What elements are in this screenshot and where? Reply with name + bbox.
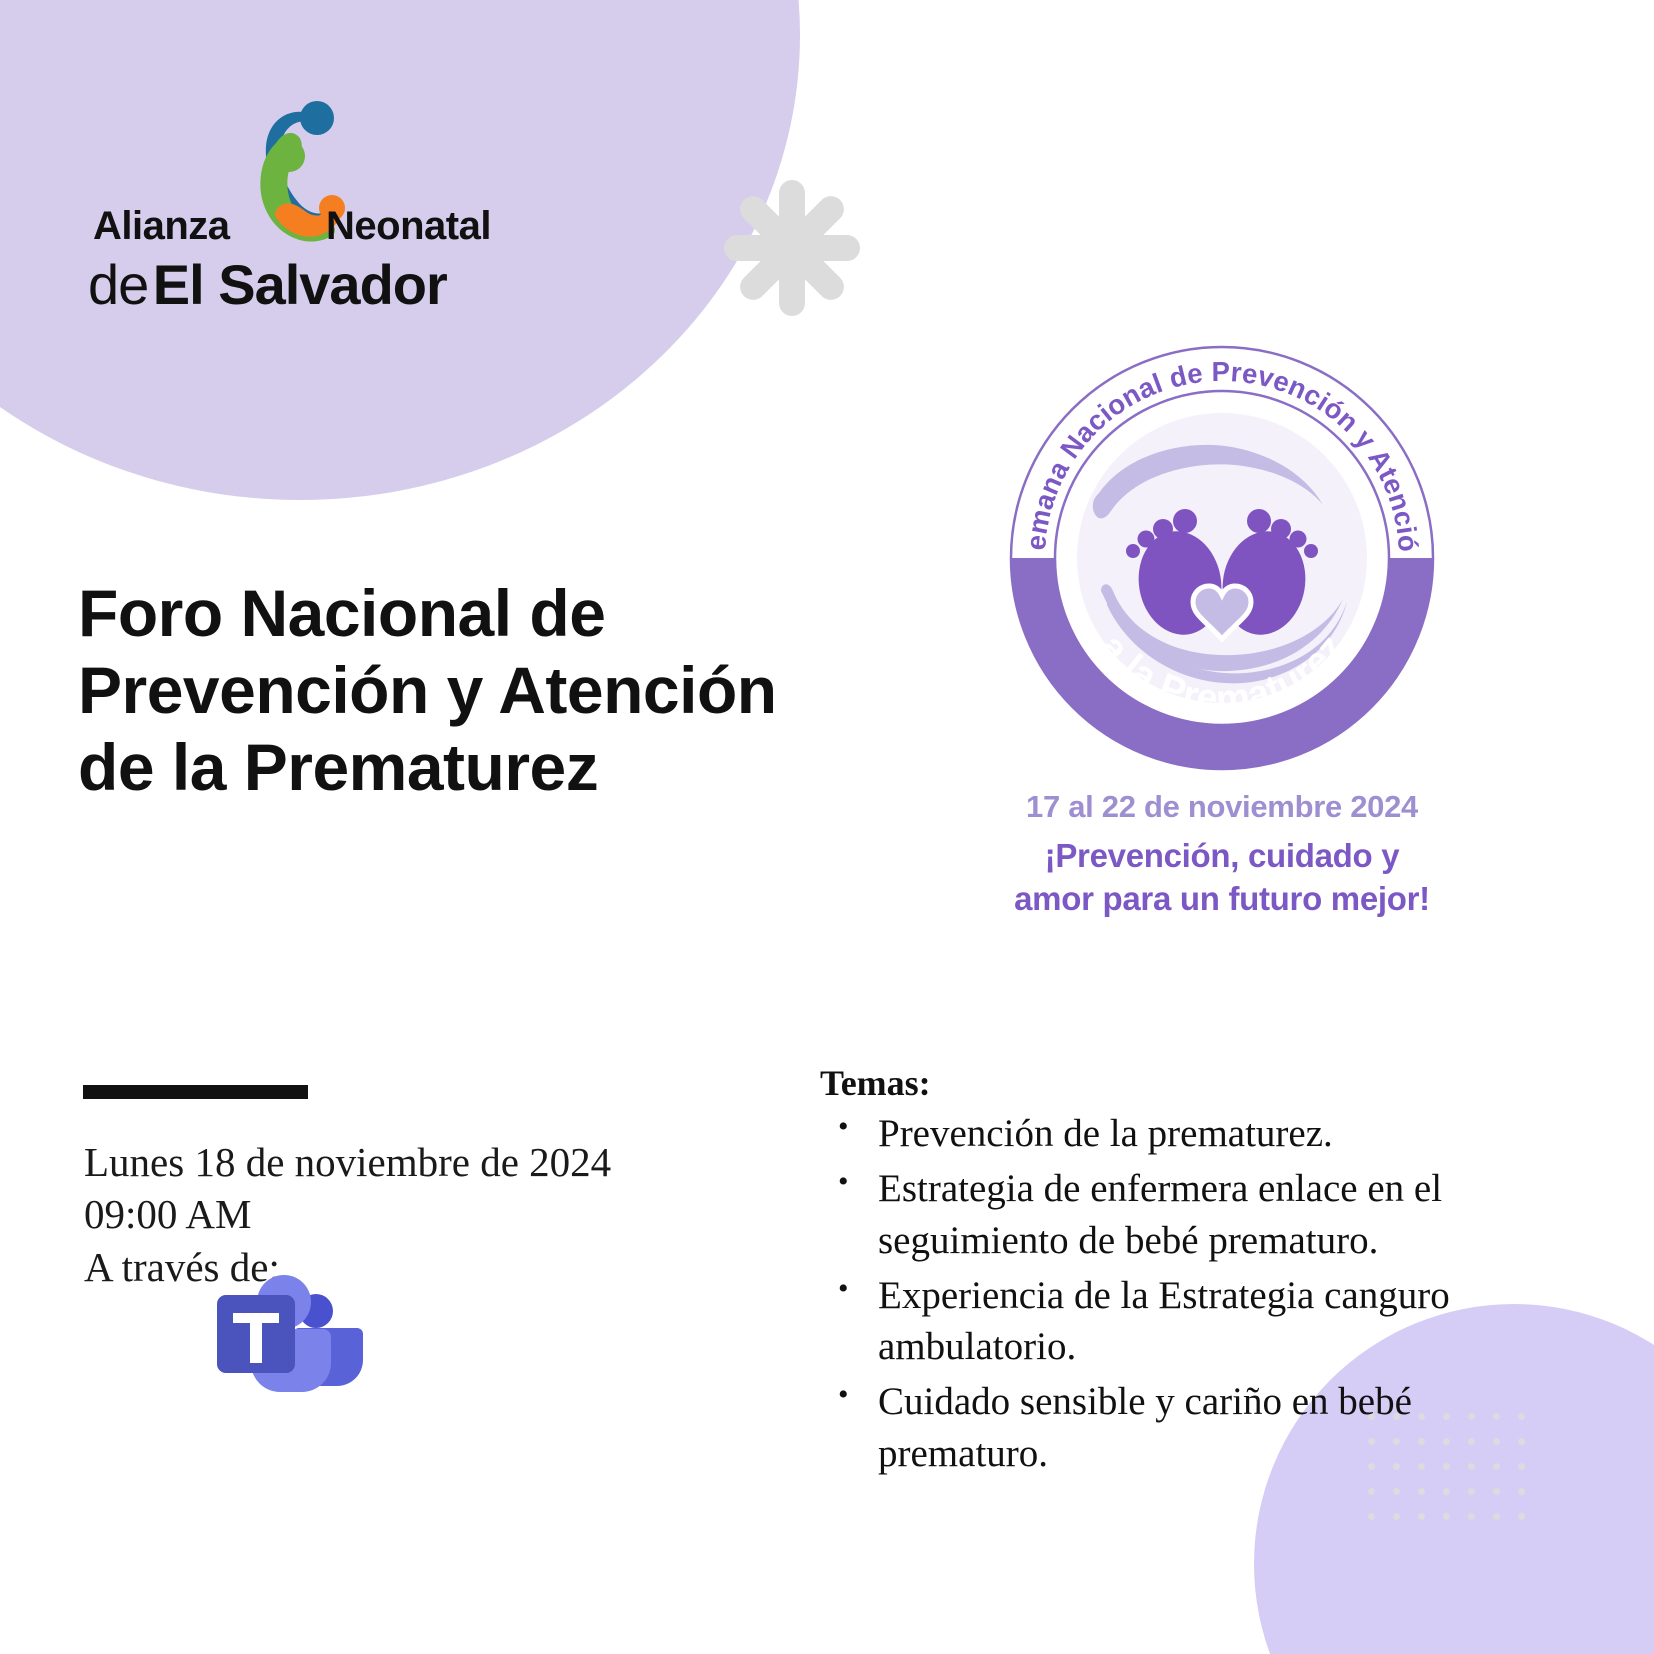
title-divider — [83, 1085, 308, 1099]
list-item: Prevención de la prematurez. — [878, 1108, 1560, 1160]
organization-logo: Alianza Neonatal de El Salvador — [88, 96, 508, 316]
microsoft-teams-icon — [213, 1274, 363, 1392]
topics-section: Temas: Prevención de la prematurez. Estr… — [820, 1062, 1560, 1483]
list-item: Experiencia de la Estrategia canguro amb… — [878, 1270, 1560, 1374]
topics-title: Temas: — [820, 1062, 1560, 1104]
list-item: Cuidado sensible y cariño en bebé premat… — [878, 1376, 1560, 1480]
event-details: Lunes 18 de noviembre de 2024 09:00 AM A… — [84, 1136, 704, 1293]
event-time: 09:00 AM — [84, 1188, 704, 1240]
logo-word-el-salvador: El Salvador — [153, 253, 447, 316]
flower-icon — [722, 178, 862, 318]
logo-word-alianza: Alianza — [93, 204, 230, 249]
emblem-slogan-line-1: ¡Prevención, cuidado y — [997, 835, 1447, 878]
topics-list: Prevención de la prematurez. Estrategia … — [820, 1108, 1560, 1480]
event-via-label: A través de: — [84, 1241, 704, 1293]
poster-canvas: Alianza Neonatal de El Salvador Foro Nac… — [0, 0, 1654, 1654]
campaign-emblem: Semana Nacional de Prevención y Atención… — [1007, 343, 1437, 773]
logo-word-de: de — [88, 253, 148, 316]
emblem-slogan-line-2: amor para un futuro mejor! — [997, 878, 1447, 921]
logo-word-neonatal: Neonatal — [326, 204, 491, 249]
page-title: Foro Nacional de Prevención y Atención d… — [78, 575, 778, 807]
list-item: Estrategia de enfermera enlace en el seg… — [878, 1163, 1560, 1267]
emblem-dates: 17 al 22 de noviembre 2024 — [997, 789, 1447, 825]
emblem-slogan: ¡Prevención, cuidado y amor para un futu… — [997, 835, 1447, 921]
event-date: Lunes 18 de noviembre de 2024 — [84, 1136, 704, 1188]
